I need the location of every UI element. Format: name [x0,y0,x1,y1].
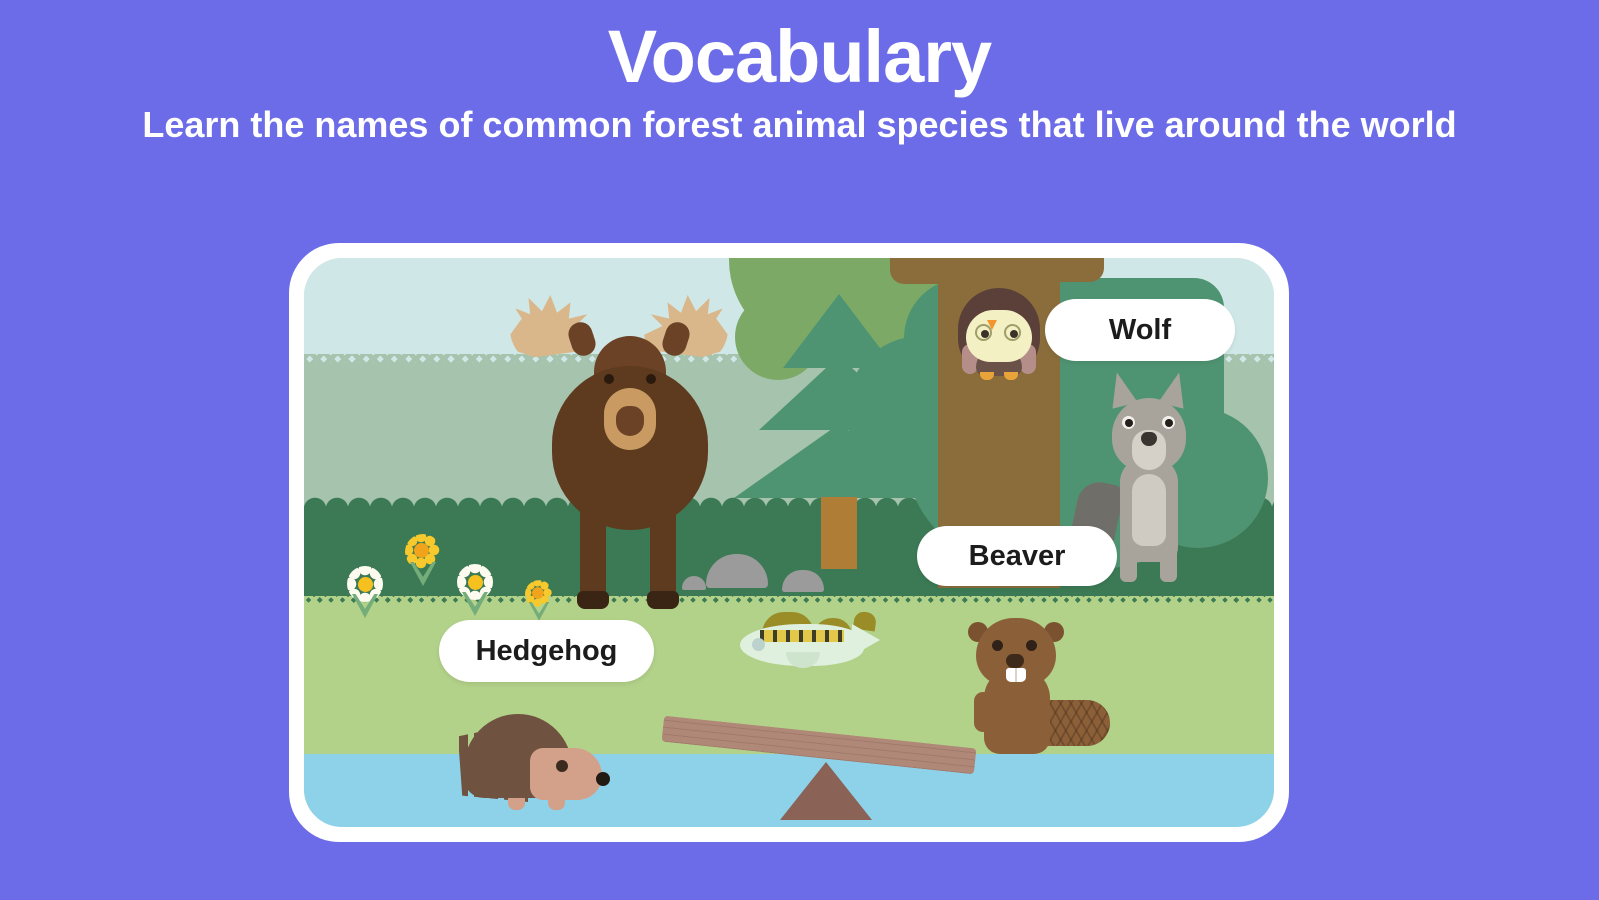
seesaw-log [662,728,976,824]
pine-tree-icon [734,294,944,594]
wolf-leg-right [1160,546,1177,582]
hedgehog-icon [464,710,612,820]
daisy-flower-1 [342,566,388,622]
beaver-eye-right [1026,640,1037,651]
page-subtitle: Learn the names of common forest animal … [0,102,1599,147]
moose-nose [616,406,644,436]
beaver-eye-left [992,640,1003,651]
beaver-teeth [1006,668,1026,682]
hedgehog-foot-front [548,798,565,810]
daisy-petals [457,564,493,600]
tree-branch-right [1060,258,1104,282]
page-title: Vocabulary [0,18,1599,96]
moose-leg-left [580,503,606,601]
wolf-chest [1132,474,1166,546]
fish-eye [752,638,765,651]
hedgehog-nose [596,772,610,786]
owl-beak [987,320,997,330]
owl-eye-right [1004,324,1021,341]
header: Vocabulary Learn the names of common for… [0,0,1599,148]
meadow-edge [304,596,1274,604]
label-pill-hedgehog[interactable]: Hedgehog [439,620,654,682]
owl-icon [958,288,1040,376]
moose-icon [504,288,754,618]
beaver-arm [974,692,992,732]
moose-hoof-left [577,591,609,609]
scene-card: Wolf Beaver Hedgehog [289,243,1289,842]
pine-tier-bottom [734,424,944,498]
sunflower-1 [400,534,446,590]
sunflower-petals [405,534,441,570]
wolf-eye-right [1162,416,1175,429]
pine-tier-middle [759,356,919,430]
hedgehog-foot-back [508,798,525,810]
beaver-icon [964,606,1114,764]
moose-leg-right [650,503,676,601]
moose-eye-right [646,374,656,384]
tree-branch-left [890,258,938,284]
seesaw-fulcrum [780,762,872,820]
hedgehog-eye [556,760,568,772]
daisy-petals [347,566,383,602]
hedgehog-body [530,748,602,800]
forest-scene-illustration: Wolf Beaver Hedgehog [304,258,1274,827]
owl-face [966,310,1032,362]
pine-trunk [821,497,857,569]
label-pill-beaver[interactable]: Beaver [917,526,1117,586]
beaver-nose [1006,654,1024,668]
label-pill-wolf[interactable]: Wolf [1045,299,1235,361]
wolf-leg-left [1120,546,1137,582]
moose-eye-left [604,374,614,384]
wolf-eye-left [1122,416,1135,429]
daisy-flower-2 [452,564,498,620]
fish-stripes [760,630,844,642]
fish-icon [724,610,892,672]
moose-hoof-right [647,591,679,609]
